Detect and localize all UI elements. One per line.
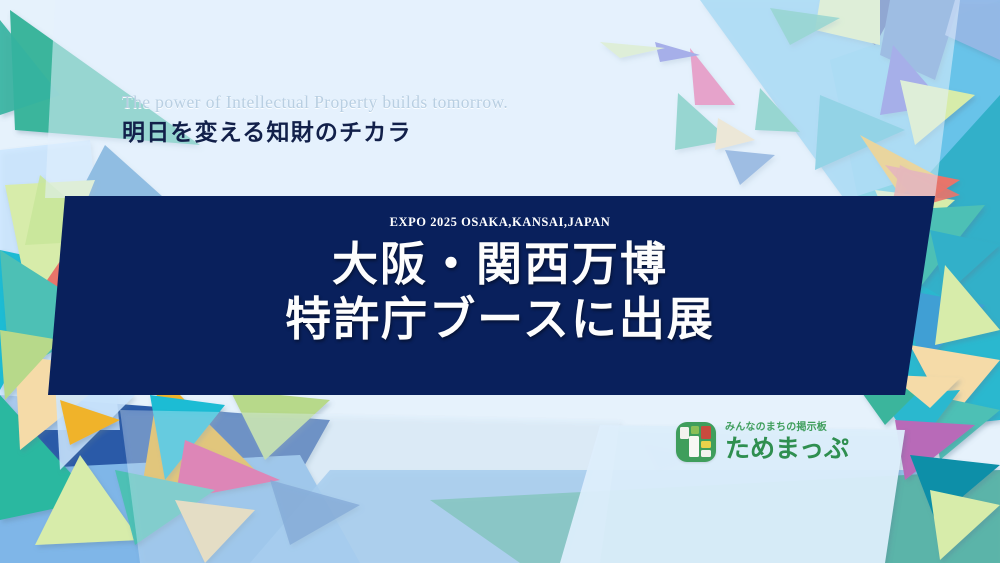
navy-banner: EXPO 2025 OSAKA,KANSAI,JAPAN 大阪・関西万博 特許庁… (0, 196, 1000, 395)
tagline-block: The power of Intellectual Property build… (122, 92, 508, 148)
banner-content: EXPO 2025 OSAKA,KANSAI,JAPAN 大阪・関西万博 特許庁… (0, 196, 1000, 395)
tagline-japanese: 明日を変える知財のチカラ (122, 117, 508, 148)
headline-line-1: 大阪・関西万博 (332, 237, 668, 291)
logo-tile-2 (701, 426, 711, 439)
logo-tile-6 (701, 450, 711, 457)
expo-eyebrow-text: EXPO 2025 OSAKA,KANSAI,JAPAN (390, 215, 611, 230)
banner-headline: 大阪・関西万博 特許庁ブースに出展 (285, 237, 715, 346)
logo-tile-4 (689, 436, 699, 457)
headline-line-2: 特許庁ブースに出展 (285, 292, 715, 347)
tile-grid-map-icon (676, 422, 716, 462)
logo-text-block: みんなのまちの掲示板 ためまっぷ (725, 423, 849, 461)
tagline-english: The power of Intellectual Property build… (122, 92, 508, 114)
logo-tagline: みんなのまちの掲示板 (725, 423, 849, 433)
promo-banner-canvas: The power of Intellectual Property build… (0, 0, 1000, 563)
logo-tile-1 (691, 426, 699, 434)
tamemap-logo-lockup[interactable]: みんなのまちの掲示板 ためまっぷ (676, 422, 849, 462)
logo-brand-name: ためまっぷ (725, 436, 849, 461)
logo-tile-5 (701, 441, 711, 448)
logo-tile-3 (680, 441, 687, 457)
logo-tile-0 (680, 427, 689, 439)
